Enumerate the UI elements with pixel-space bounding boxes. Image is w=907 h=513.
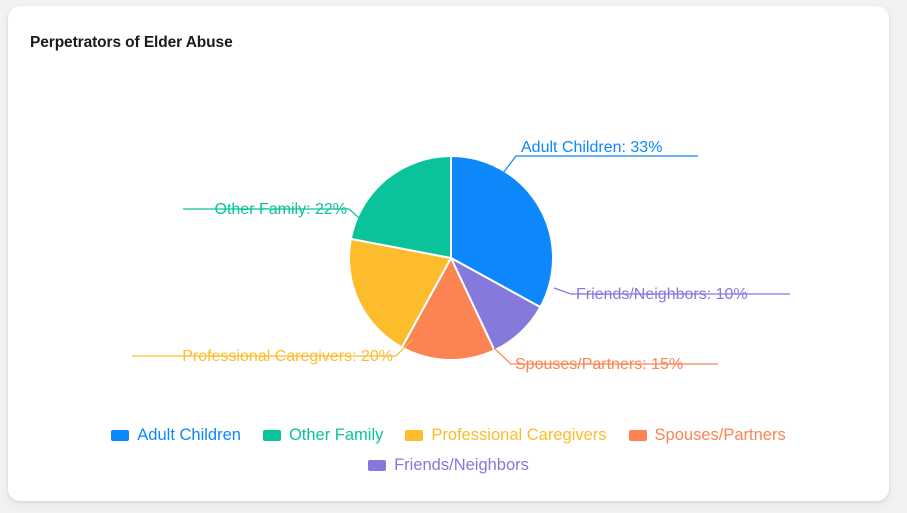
- legend-item-label: Spouses/Partners: [655, 427, 786, 444]
- legend-item[interactable]: Other Family: [263, 427, 383, 444]
- legend-color-swatch-icon: [629, 430, 647, 441]
- legend-item[interactable]: Spouses/Partners: [629, 427, 786, 444]
- legend-item-label: Other Family: [289, 427, 383, 444]
- legend-item-label: Adult Children: [137, 427, 241, 444]
- pie-slice[interactable]: [351, 156, 451, 258]
- legend-item-label: Friends/Neighbors: [394, 457, 529, 474]
- legend-item[interactable]: Professional Caregivers: [405, 427, 606, 444]
- pie-slice-label: Professional Caregivers: 20%: [182, 348, 393, 365]
- legend-item[interactable]: Adult Children: [111, 427, 241, 444]
- pie-slice-label: Other Family: 22%: [215, 201, 347, 218]
- chart-legend-row-1: Adult ChildrenOther FamilyProfessional C…: [8, 427, 889, 444]
- legend-color-swatch-icon: [368, 460, 386, 471]
- pie-slice-label: Adult Children: 33%: [521, 139, 662, 156]
- pie-slice-label: Friends/Neighbors: 10%: [576, 286, 748, 303]
- pie-slice-group: [349, 156, 553, 360]
- legend-item-label: Professional Caregivers: [431, 427, 606, 444]
- pie-leader-line: [497, 156, 698, 181]
- chart-card: Perpetrators of Elder Abuse Adult Childr…: [8, 6, 889, 501]
- pie-slice-label: Spouses/Partners: 15%: [515, 356, 683, 373]
- legend-color-swatch-icon: [263, 430, 281, 441]
- legend-color-swatch-icon: [111, 430, 129, 441]
- chart-legend-row-2: Friends/Neighbors: [8, 457, 889, 474]
- legend-item[interactable]: Friends/Neighbors: [368, 457, 529, 474]
- legend-color-swatch-icon: [405, 430, 423, 441]
